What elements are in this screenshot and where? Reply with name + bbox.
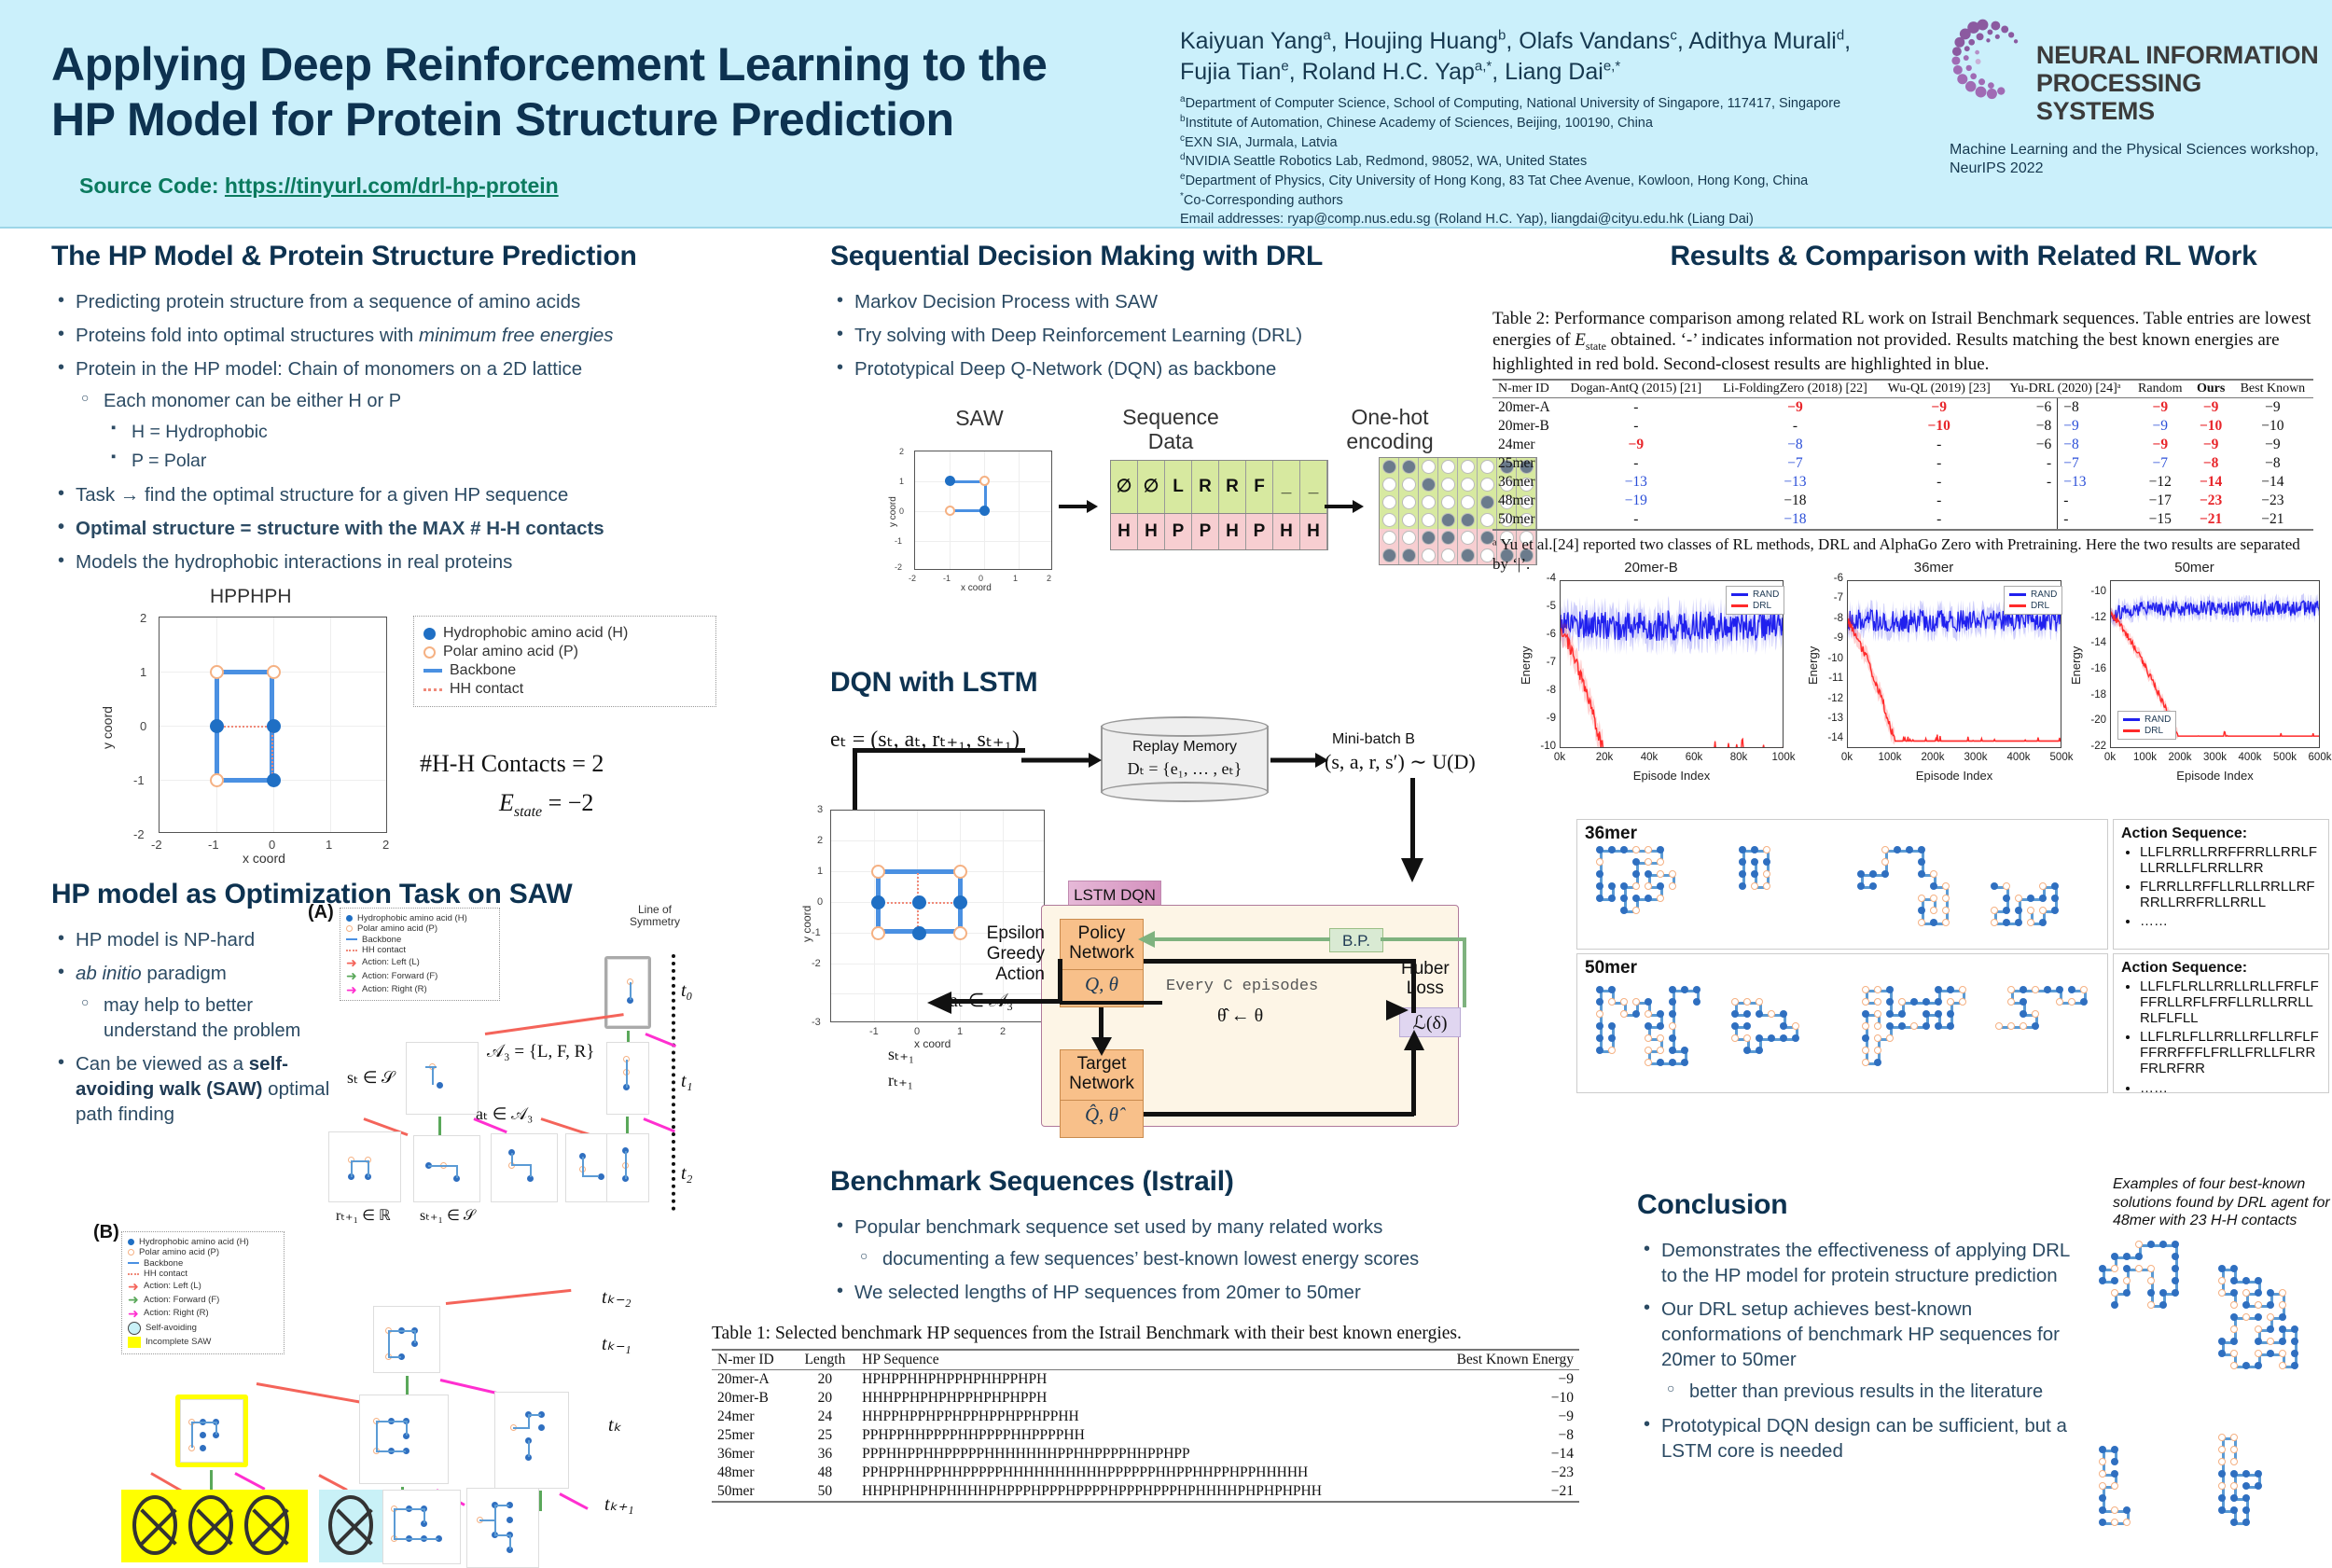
epsilon-greedy-label: Epsilon Greedy Action xyxy=(942,923,1045,985)
y-axis-tick: -7 xyxy=(1819,592,1843,604)
polar-monomer xyxy=(2039,907,2047,914)
table2-caption: Table 2: Performance comparison among re… xyxy=(1492,308,2313,375)
table-row: 20mer-A20HPHPPHHPHPPHPHHPPHPH−9 xyxy=(712,1369,1579,1389)
x-tick: 1 xyxy=(326,838,332,852)
target-network-params: Q̂, θ̂ xyxy=(1061,1100,1143,1130)
onehot-cell xyxy=(1380,547,1399,564)
hydrophobic-monomer xyxy=(1935,986,1942,993)
polar-monomer xyxy=(2267,1313,2274,1321)
page-title: Applying Deep Reinforcement Learning to … xyxy=(51,37,1152,147)
polar-monomer xyxy=(1874,1010,1881,1018)
legend-row: Polar amino acid (P) xyxy=(423,644,706,660)
hydrophobic-monomer xyxy=(1756,1034,1763,1042)
polar-monomer xyxy=(1947,998,1954,1006)
table-cell: −21 xyxy=(1424,1482,1579,1502)
action-right-arrow-icon: ➜ xyxy=(128,1307,139,1320)
hydrophobic-monomer xyxy=(1886,998,1894,1006)
polar-monomer xyxy=(1756,998,1763,1006)
y-axis-tick: -13 xyxy=(1819,713,1843,724)
lattice-conformation xyxy=(2218,1241,2330,1390)
table-cell: - xyxy=(2000,473,2058,492)
polar-monomer xyxy=(2255,1301,2262,1309)
hydrophobic-monomer xyxy=(1947,1010,1954,1018)
hydrophobic-monomer xyxy=(2291,1325,2298,1333)
polar-monomer xyxy=(1768,1010,1775,1018)
y-tick: 1 xyxy=(899,477,904,486)
polar-monomer xyxy=(1792,1022,1799,1030)
table-row: 36mer−13−13--−13−12−14−14 xyxy=(1492,473,2313,492)
invalid-x-icon xyxy=(328,1495,373,1555)
onehot-empty-dot xyxy=(1422,495,1436,509)
legend-row: Polar amino acid (P) xyxy=(346,923,493,934)
affiliation-line: *Co-Corresponding authors xyxy=(1180,190,1889,210)
table-cell: PPHPPHHPPHHPPPPPHHHHHHHHHHPPPPPPHHPPHHPP… xyxy=(856,1464,1424,1482)
hydrophobic-monomer xyxy=(1645,998,1652,1006)
polar-monomer xyxy=(2027,907,2034,914)
table-cell: 50 xyxy=(794,1482,856,1502)
hydrophobic-monomer xyxy=(1669,986,1676,993)
table-cell: −13 xyxy=(1560,473,1712,492)
list-item: better than previous results in the lite… xyxy=(1661,1380,2075,1404)
x-tick: -2 xyxy=(151,838,162,852)
table1: N-mer IDLengthHP SequenceBest Known Ener… xyxy=(712,1349,1579,1503)
polar-monomer xyxy=(1645,1059,1652,1066)
hydrophobic-monomer xyxy=(1751,870,1758,878)
hpphph-figure-title: HPPHPH xyxy=(210,586,292,608)
polar-monomer xyxy=(2147,1265,2155,1272)
table-cell: 48 xyxy=(794,1464,856,1482)
y-tick: 2 xyxy=(899,447,904,456)
hydrophobic-monomer xyxy=(2267,1350,2274,1357)
hydrophobic-monomer xyxy=(2111,1301,2118,1309)
hydrophobic-monomer xyxy=(1596,882,1603,890)
polar-monomer xyxy=(2080,986,2088,993)
polar-monomer xyxy=(2056,998,2063,1006)
hydrophobic-monomer xyxy=(1657,882,1664,890)
x-axis-tick: 0k xyxy=(2097,752,2123,763)
table-cell xyxy=(2000,492,2058,510)
saw-node-t2-a xyxy=(328,1131,401,1202)
list-item: documenting a few sequences’ best-known … xyxy=(854,1247,1614,1271)
self-avoiding-group xyxy=(319,1490,382,1562)
list-item: Each monomer can be either H or P H = Hy… xyxy=(76,389,760,474)
onehot-filled-dot xyxy=(1441,531,1455,545)
backprop-box: B.P. xyxy=(1329,928,1383,952)
invalid-x-icon xyxy=(188,1495,233,1555)
polar-monomer xyxy=(2255,1350,2262,1357)
target-network-box: TargetNetwork Q̂, θ̂ xyxy=(1060,1049,1144,1138)
table-cell: −6 xyxy=(2000,436,2058,454)
y-axis-tick: -6 xyxy=(1819,573,1843,584)
table-cell: 25 xyxy=(794,1426,856,1445)
benchmark-bullet-list: Popular benchmark sequence set used by m… xyxy=(830,1214,1614,1305)
polar-monomer xyxy=(1645,1047,1652,1054)
right-column: Results & Comparison with Related RL Wor… xyxy=(1637,241,2290,289)
lattice-conformation xyxy=(1727,846,1839,939)
polar-monomer xyxy=(2218,1446,2226,1453)
legend-row: Hydrophobic amino acid (H) xyxy=(346,913,493,923)
saw-node-tk-1 xyxy=(373,1306,440,1373)
sub-bullet-text: Each monomer can be either H or P xyxy=(104,391,401,411)
hydrophobic-monomer xyxy=(2135,1253,2143,1260)
hydrophobic-monomer xyxy=(2172,1265,2179,1272)
table-cell: 36 xyxy=(794,1445,856,1464)
table-cell: 20mer-B xyxy=(712,1389,794,1408)
hh-contact-line-icon xyxy=(128,1273,139,1275)
polar-monomer xyxy=(1918,895,1925,902)
table-row: 50mer50HHPHPHPHPHHHHPHPPPHPPPHPPPPHPPPHP… xyxy=(712,1482,1579,1502)
hydrophobic-monomer xyxy=(1693,986,1700,993)
hh-contact-line-icon xyxy=(346,950,357,951)
legend-row: Backbone xyxy=(128,1258,278,1269)
action-left-arrow-icon: ➜ xyxy=(128,1280,139,1293)
table-cell-id: 25mer xyxy=(1492,454,1560,473)
hydrophobic-monomer xyxy=(1608,986,1616,993)
hydrophobic-monomer xyxy=(953,895,967,909)
list-item: Proteins fold into optimal structures wi… xyxy=(51,323,760,348)
y-axis-tick: -6 xyxy=(1532,629,1556,640)
polar-monomer xyxy=(1657,858,1664,866)
timestep-label-tk: tₖ xyxy=(608,1413,621,1436)
panel-label-50mer: 50mer xyxy=(1585,958,1637,978)
table-body: 20mer-A20HPHPPHHPHPPHPHHPPHPH−920mer-B20… xyxy=(712,1369,1579,1502)
onehot-cell xyxy=(1458,529,1478,547)
legend-entry: DRL xyxy=(2123,726,2171,736)
hydrophobic-monomer xyxy=(2147,1289,2155,1297)
onehot-cell xyxy=(1438,529,1458,547)
lattice-conformation xyxy=(1978,846,2090,939)
onehot-cell xyxy=(1458,547,1478,564)
polar-monomer xyxy=(1657,1034,1664,1042)
hydrophobic-monomer xyxy=(1874,1059,1881,1066)
hydrophobic-monomer xyxy=(2291,1362,2298,1369)
legend-label: DRL xyxy=(2031,601,2049,611)
hydrophobic-monomer xyxy=(1620,907,1628,914)
hydrophobic-monomer xyxy=(1596,1034,1603,1042)
minibatch-label: Mini-batch B xyxy=(1332,731,1415,748)
hydrophobic-monomer xyxy=(1886,1022,1894,1030)
table-row: 48mer48PPHPPHHPPHHPPPPPHHHHHHHHHHPPPPPPH… xyxy=(712,1464,1579,1482)
hydrophobic-monomer xyxy=(2255,1289,2262,1297)
hydrophobic-monomer xyxy=(2255,1482,2262,1490)
hydrophobic-monomer xyxy=(2172,1289,2179,1297)
hydrophobic-monomer xyxy=(1780,1010,1787,1018)
timestep-label-t2: t₂ xyxy=(681,1163,693,1185)
table-row: 36mer36PPPHHPPHHPPPPPHHHHHHHPPHHPPPPHHPP… xyxy=(712,1445,1579,1464)
hydrophobic-monomer xyxy=(2218,1350,2226,1357)
hydrophobic-monomer xyxy=(2230,1506,2238,1514)
y-tick: 0 xyxy=(899,506,904,516)
legend-row: Self-avoiding xyxy=(128,1322,278,1335)
onehot-cell xyxy=(1399,511,1419,529)
hydrophobic-monomer xyxy=(2242,1362,2250,1369)
table-cell: - xyxy=(1560,454,1712,473)
hydrophobic-monomer xyxy=(2020,1010,2027,1018)
onehot-cell xyxy=(1399,476,1419,493)
polar-monomer xyxy=(1657,870,1664,878)
polar-monomer xyxy=(1874,1047,1881,1054)
action-forward-arrow xyxy=(539,1491,542,1511)
hydrophobic-monomer xyxy=(912,895,926,909)
polar-monomer xyxy=(2111,1506,2118,1514)
action-left-arrow xyxy=(257,1382,375,1406)
hydrophobic-monomer xyxy=(1739,870,1746,878)
action-sequence-label: Action Sequence: xyxy=(2121,960,2321,977)
onehot-cell xyxy=(1399,493,1419,511)
polar-monomer xyxy=(1596,1010,1603,1018)
onehot-empty-dot xyxy=(1402,495,1416,509)
onehot-empty-dot xyxy=(1382,495,1396,509)
action-cell: _ xyxy=(1273,461,1300,513)
table-cell: - xyxy=(1879,454,2000,473)
y-axis-tick: -16 xyxy=(2082,663,2106,674)
hydrophobic-monomer xyxy=(2123,1265,2131,1272)
hydrophobic-monomer xyxy=(2218,1338,2226,1345)
polar-monomer xyxy=(2020,1022,2027,1030)
section-heading-drl: Sequential Decision Making with DRL xyxy=(830,241,1614,272)
invalid-x-icon xyxy=(244,1495,289,1555)
conformation-caption: Examples of four best-known solutions fo… xyxy=(2113,1175,2332,1230)
replay-memory-label: Replay Memory xyxy=(1101,739,1269,756)
onehot-cell xyxy=(1438,458,1458,476)
saw-sub-list: may help to better understand the proble… xyxy=(76,993,340,1043)
panel-b-legend: Hydrophobic amino acid (H) Polar amino a… xyxy=(121,1231,285,1354)
y-tick: 2 xyxy=(140,611,146,625)
legend-row: ➜Action: Right (R) xyxy=(346,983,493,996)
onehot-empty-dot xyxy=(1422,548,1436,562)
legend-row: HH contact xyxy=(128,1269,278,1279)
onehot-cell xyxy=(1380,493,1399,511)
x-axis-label: Episode Index xyxy=(1847,769,2061,783)
table-cell-id: 48mer xyxy=(1492,492,1560,510)
hydrophobic-monomer xyxy=(2056,986,2063,993)
list-item: HP model is NP-hard xyxy=(51,927,340,952)
polar-monomer xyxy=(953,865,967,879)
action-right-arrow xyxy=(234,1472,265,1491)
saw-bullet-list: HP model is NP-hard ab initio paradigm m… xyxy=(51,927,340,1127)
table-cell: HHPPHPPHPPHPPHPPHPPHPPHH xyxy=(856,1408,1424,1426)
title-line-1: Applying Deep Reinforcement Learning to … xyxy=(51,37,1152,92)
x-axis-tick: 0k xyxy=(1547,752,1573,763)
legend-entry: DRL xyxy=(1731,601,1779,611)
affiliation-line: dNVIDIA Seattle Robotics Lab, Redmond, 9… xyxy=(1180,151,1889,171)
hydrophobic-monomer xyxy=(1756,1047,1763,1054)
table-cell-best: −9 xyxy=(2232,397,2313,417)
minibatch-equation: (s, a, r, s′) ∼ U(D) xyxy=(1325,750,1476,774)
hydrophobic-monomer xyxy=(2172,1241,2179,1248)
incomplete-saw-icon xyxy=(128,1337,141,1348)
hydrophobic-monomer xyxy=(1792,1034,1799,1042)
polar-monomer xyxy=(2218,1434,2226,1441)
y-tick: -2 xyxy=(812,958,821,969)
onehot-cell xyxy=(1458,458,1478,476)
hydrophobic-monomer xyxy=(1731,1010,1739,1018)
table-body: 20mer-A-−9−9−6−8−9−9−920mer-B--−10−8−9−9… xyxy=(1492,397,2313,530)
hydrophobic-monomer xyxy=(2080,998,2088,1006)
training-curve-chart-20mer-B: 20mer-B-4-5-6-7-8-9-100k20k40k60k80k100k… xyxy=(1511,560,1791,793)
hydrophobic-monomer xyxy=(1918,870,1925,878)
polar-monomer xyxy=(1608,1047,1616,1054)
action-left-arrow xyxy=(318,1474,347,1492)
x-axis-tick: 200k xyxy=(1920,752,1946,763)
table-cell: HHPHPHPHPHHHHPHPPPHPPPHPPPPHPPPHPPPHPHHH… xyxy=(856,1482,1424,1502)
neurips-swirl-icon xyxy=(1950,17,2029,106)
table-cell: −7 xyxy=(2058,454,2131,473)
hydrophobic-monomer xyxy=(1763,858,1770,866)
hydrophobic-monomer xyxy=(210,719,224,733)
polar-monomer xyxy=(1995,1022,2003,1030)
hp-sub-list: Each monomer can be either H or P H = Hy… xyxy=(76,389,760,474)
x-axis-label: Episode Index xyxy=(1560,769,1784,783)
x-tick: -2 xyxy=(909,574,916,583)
section-heading-conclusion: Conclusion xyxy=(1637,1189,2075,1221)
onehot-cell xyxy=(1458,476,1478,493)
onehot-filled-dot xyxy=(1461,548,1475,562)
polar-monomer xyxy=(2218,1277,2226,1284)
list-item: Can be viewed as a self-avoiding walk (S… xyxy=(51,1051,340,1127)
polar-monomer xyxy=(1669,1022,1676,1030)
polar-monomer xyxy=(1930,907,1937,914)
hydrophobic-monomer xyxy=(2218,1470,2226,1478)
table-cell-best: −21 xyxy=(2232,510,2313,530)
polar-monomer xyxy=(2007,998,2015,1006)
backbone-line-icon xyxy=(128,1262,139,1265)
panel-a-legend: Hydrophobic amino acid (H) Polar amino a… xyxy=(340,908,500,1001)
table-cell: - xyxy=(1879,436,2000,454)
hydrophobic-monomer xyxy=(2172,1253,2179,1260)
saw-figure-label: SAW xyxy=(919,406,1040,431)
table-cell-id: 36mer xyxy=(1492,473,1560,492)
hydrophobic-monomer xyxy=(1930,919,1937,926)
table-cell: −9 xyxy=(2190,397,2232,417)
backbone-line-icon xyxy=(423,669,442,673)
legend-row: ➜Action: Forward (F) xyxy=(128,1293,278,1306)
onehot-empty-dot xyxy=(1441,478,1455,492)
hydrophobic-monomer xyxy=(1857,870,1865,878)
polar-monomer xyxy=(1645,882,1652,890)
hydrophobic-monomer xyxy=(1596,895,1603,902)
legend-swatch xyxy=(2009,593,2026,596)
list-item: Protein in the HP model: Chain of monome… xyxy=(51,356,760,474)
hydrophobic-monomer xyxy=(2159,1241,2167,1248)
hydrophobic-monomer xyxy=(2218,1494,2226,1502)
action-set-equation: 𝒜₃ = {L, F, R} xyxy=(487,1042,594,1062)
action-forward-arrow xyxy=(626,1117,629,1135)
chart-legend: RANDDRL xyxy=(2004,586,2062,615)
hydrophobic-monomer xyxy=(2015,919,2022,926)
hp-cell: P xyxy=(1165,514,1192,549)
table-row: 20mer-A-−9−9−6−8−9−9−9 xyxy=(1492,397,2313,417)
table-cell-id: 20mer-B xyxy=(1492,417,1560,436)
hp-subsub-list: H = Hydrophobic P = Polar xyxy=(104,421,760,474)
timestep-label-tk+1: tₖ₊₁ xyxy=(604,1492,634,1516)
bullet-text: Protein in the HP model: Chain of monome… xyxy=(76,358,582,380)
polar-monomer xyxy=(2267,1338,2274,1345)
hydrophobic-monomer xyxy=(1935,998,1942,1006)
x-tick: -1 xyxy=(869,1026,879,1037)
hp-model-bullet-list: Predicting protein structure from a sequ… xyxy=(51,289,760,575)
table-cell: −9 xyxy=(2131,417,2190,436)
x-tick: 2 xyxy=(1047,574,1051,583)
hydrophobic-monomer xyxy=(871,895,885,909)
polar-monomer xyxy=(1874,998,1881,1006)
hydrophobic-monomer xyxy=(1780,1022,1787,1030)
table-cell-id: 50mer xyxy=(1492,510,1560,530)
list-item: P = Polar xyxy=(104,450,760,474)
table-cell: −9 xyxy=(2190,436,2232,454)
hydrophobic-monomer xyxy=(2039,895,2047,902)
table-cell: −8 xyxy=(2190,454,2232,473)
y-tick: 0 xyxy=(140,719,146,733)
x-axis-tick: 60k xyxy=(1681,752,1707,763)
hydrophobic-dot-icon xyxy=(423,628,436,640)
legend-label: DRL xyxy=(1753,601,1771,611)
onehot-cell xyxy=(1399,547,1419,564)
polar-monomer xyxy=(979,476,990,486)
policy-network-params: Q, θ xyxy=(1061,969,1143,999)
y-axis-tick: -8 xyxy=(1532,685,1556,696)
hydrophobic-monomer xyxy=(2230,1494,2238,1502)
x-tick: 0 xyxy=(979,574,983,583)
onehot-filled-dot xyxy=(1382,460,1396,474)
x-axis-tick: 600k xyxy=(2307,752,2332,763)
list-item: Demonstrates the effectiveness of applyi… xyxy=(1637,1238,2075,1288)
hydrophobic-dot-icon xyxy=(128,1239,134,1245)
hydrophobic-monomer xyxy=(1669,1010,1676,1018)
hydrophobic-monomer xyxy=(1869,882,1877,890)
hydrophobic-monomer xyxy=(2230,1313,2238,1321)
training-curve-chart-36mer: 36mer-6-7-8-9-10-11-12-13-140k100k200k30… xyxy=(1798,560,2069,793)
polar-monomer xyxy=(1918,919,1925,926)
polar-monomer xyxy=(1632,998,1640,1006)
saw-node-t2-b xyxy=(413,1135,480,1202)
polar-monomer xyxy=(2147,1277,2155,1284)
polar-monomer xyxy=(1862,1022,1869,1030)
y-axis-label: Energy xyxy=(1806,646,1820,685)
x-axis-tick: 300k xyxy=(2202,752,2228,763)
hpphph-axes xyxy=(159,617,387,833)
action-cell: ∅ xyxy=(1111,461,1138,513)
training-curve-chart-50mer: 50mer-10-12-14-16-18-20-220k100k200k300k… xyxy=(2061,560,2327,793)
hydrophobic-monomer xyxy=(2230,1265,2238,1272)
table-cell: −10 xyxy=(1879,417,2000,436)
hydrophobic-monomer xyxy=(1596,1022,1603,1030)
source-code-link[interactable]: https://tinyurl.com/drl-hp-protein xyxy=(225,173,559,198)
bullet-emphasis: ab initio xyxy=(76,963,142,984)
x-axis-label: x coord xyxy=(243,851,285,866)
saw-node-tk1-right xyxy=(466,1488,539,1568)
hydrophobic-monomer xyxy=(1731,1022,1739,1030)
hydrophobic-monomer xyxy=(1681,986,1688,993)
polar-monomer xyxy=(2230,1482,2238,1490)
polar-monomer xyxy=(2255,1325,2262,1333)
legend-entry: RAND xyxy=(2009,590,2057,600)
table-cell: HHHPPHPHPHPPHPHPHPPH xyxy=(856,1389,1424,1408)
hydrophobic-monomer xyxy=(1645,895,1652,902)
hydrophobic-monomer xyxy=(2291,1338,2298,1345)
y-axis-tick: -9 xyxy=(1819,632,1843,644)
action-cell: F xyxy=(1246,461,1273,513)
table-cell: 24 xyxy=(794,1408,856,1426)
column-header: N-mer ID xyxy=(1492,380,1560,398)
hydrophobic-monomer xyxy=(1743,1010,1751,1018)
hydrophobic-monomer xyxy=(2242,1506,2250,1514)
polar-monomer xyxy=(2135,1265,2143,1272)
lattice-conformation xyxy=(1857,846,1969,939)
hp-cell: H xyxy=(1219,514,1246,549)
hydrophobic-monomer xyxy=(1596,846,1603,853)
lattice-conformation xyxy=(2099,1241,2211,1390)
